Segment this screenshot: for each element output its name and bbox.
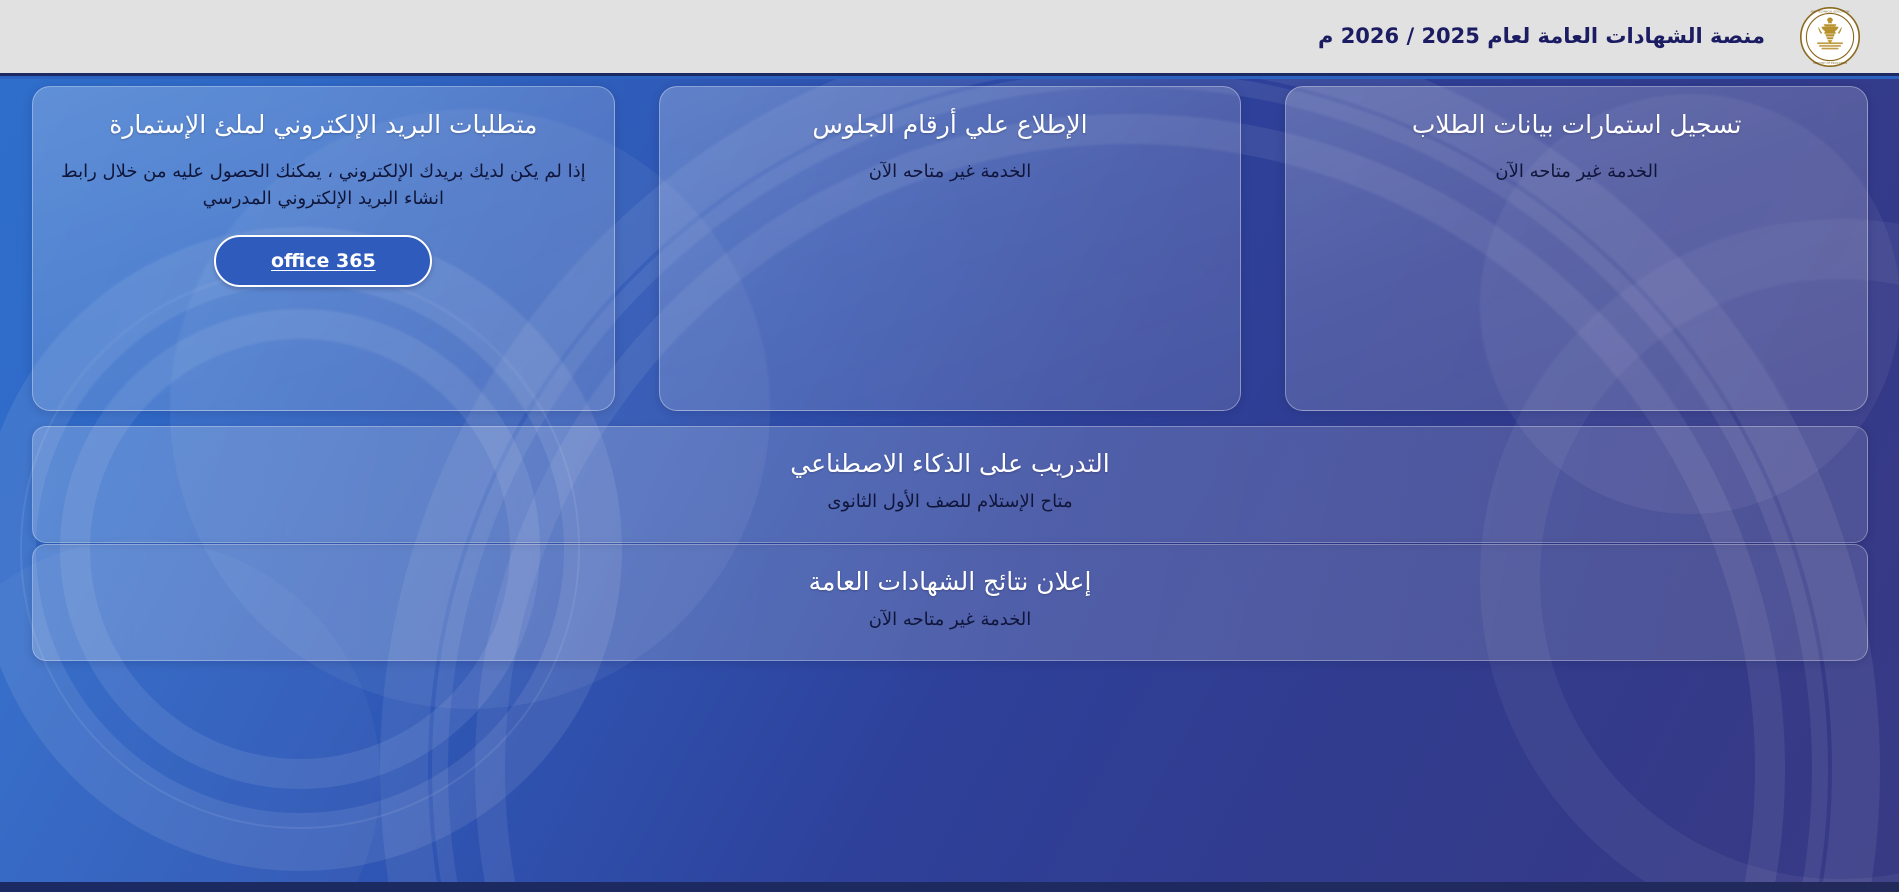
ministry-of-education-emblem-icon: MINISTRY OF EDUCATION AND TECHNICAL EDUC… — [1799, 6, 1861, 68]
banner-subtitle: متاح الإستلام للصف الأول الثانوى — [33, 491, 1867, 512]
card-title: متطلبات البريد الإلكتروني لملئ الإستمارة — [51, 109, 596, 142]
service-card-row: تسجيل استمارات بيانات الطلاب الخدمة غير … — [32, 86, 1868, 411]
svg-text:MINISTRY OF EDUCATION: MINISTRY OF EDUCATION — [1813, 61, 1847, 65]
page-title: منصة الشهادات العامة لعام 2025 / 2026 م — [1318, 26, 1765, 47]
card-subtitle: إذا لم يكن لديك بريدك الإلكتروني ، يمكنك… — [51, 158, 596, 214]
banner-subtitle: الخدمة غير متاحه الآن — [33, 609, 1867, 630]
card-email-requirements[interactable]: متطلبات البريد الإلكتروني لملئ الإستمارة… — [32, 86, 615, 411]
office-365-button[interactable]: office 365 — [214, 235, 432, 287]
banner-title: التدريب على الذكاء الاصطناعي — [33, 448, 1867, 479]
main-stage: تسجيل استمارات بيانات الطلاب الخدمة غير … — [0, 79, 1899, 892]
card-seat-numbers[interactable]: الإطلاع علي أرقام الجلوس الخدمة غير متاح… — [659, 86, 1242, 411]
svg-text:AND TECHNICAL EDUCATION: AND TECHNICAL EDUCATION — [1811, 9, 1850, 13]
banner-title: إعلان نتائج الشهادات العامة — [33, 566, 1867, 597]
card-subtitle: الخدمة غير متاحه الآن — [678, 158, 1223, 186]
banner-ai-training[interactable]: التدريب على الذكاء الاصطناعي متاح الإستل… — [32, 426, 1868, 543]
card-title: تسجيل استمارات بيانات الطلاب — [1304, 109, 1849, 142]
card-subtitle: الخدمة غير متاحه الآن — [1304, 158, 1849, 186]
card-action-area: office 365 — [51, 235, 596, 287]
bottom-strip — [0, 882, 1899, 892]
card-student-data-forms[interactable]: تسجيل استمارات بيانات الطلاب الخدمة غير … — [1285, 86, 1868, 411]
banner-results-announcement[interactable]: إعلان نتائج الشهادات العامة الخدمة غير م… — [32, 544, 1868, 661]
card-title: الإطلاع علي أرقام الجلوس — [678, 109, 1223, 142]
page-header: MINISTRY OF EDUCATION AND TECHNICAL EDUC… — [0, 0, 1899, 76]
